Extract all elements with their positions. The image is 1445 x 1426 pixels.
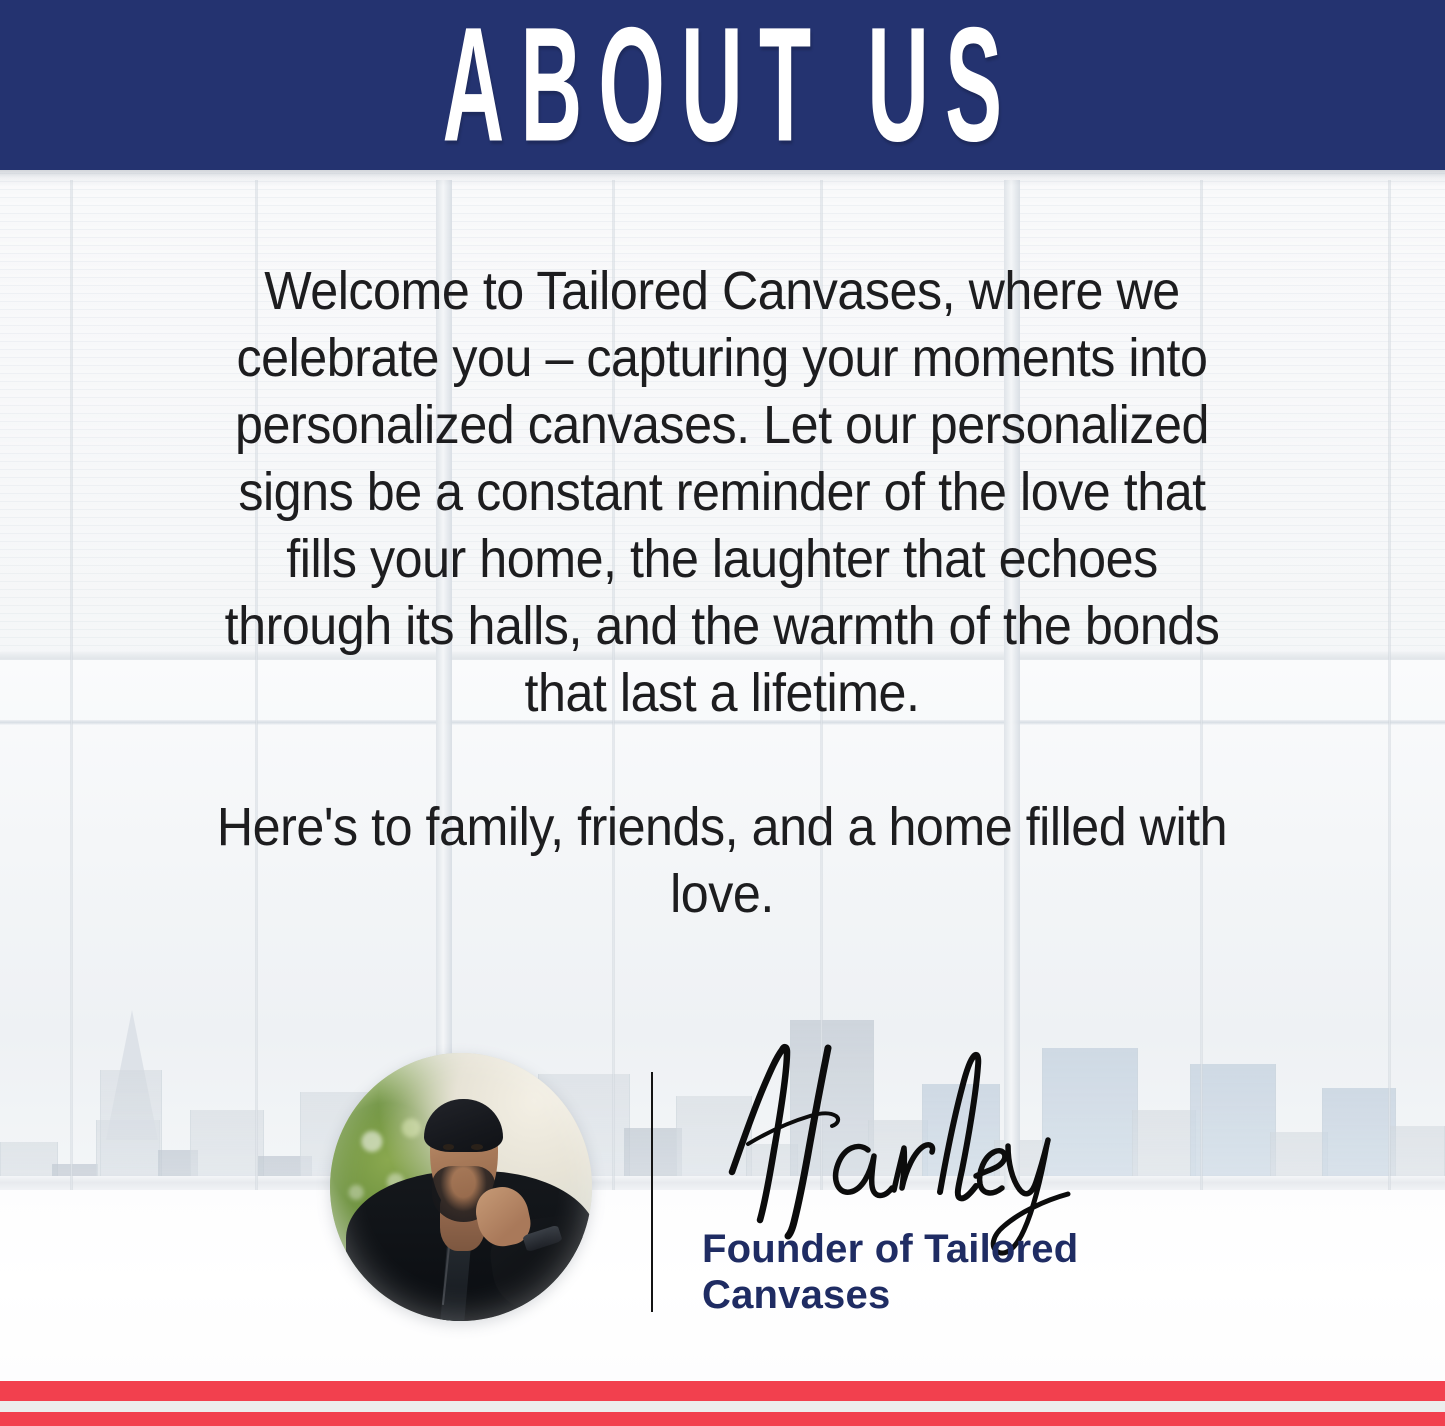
founder-title: Founder of Tailored Canvases: [702, 1226, 1172, 1318]
header-drop-shadow: [0, 170, 1445, 186]
footer-stripe-upper: [0, 1381, 1445, 1401]
about-us-page: ABOUT US Welcome to Tailored Canvases, w…: [0, 0, 1445, 1426]
window-mullion: [70, 180, 73, 1280]
header-banner: ABOUT US: [0, 0, 1445, 170]
paragraph-spacer: [211, 727, 1234, 794]
about-us-body: Welcome to Tailored Canvases, where we c…: [211, 258, 1234, 928]
founder-avatar: [330, 1053, 592, 1321]
about-paragraph-2: Here's to family, friends, and a home fi…: [211, 794, 1234, 928]
about-paragraph-1: Welcome to Tailored Canvases, where we c…: [211, 258, 1234, 727]
avatar-vignette: [330, 1053, 592, 1321]
footer-stripe-gap: [0, 1401, 1445, 1412]
window-mullion: [1388, 180, 1391, 1280]
footer-stripe-lower: [0, 1412, 1445, 1426]
page-title: ABOUT US: [427, 4, 1019, 167]
signature-divider: [651, 1072, 653, 1312]
